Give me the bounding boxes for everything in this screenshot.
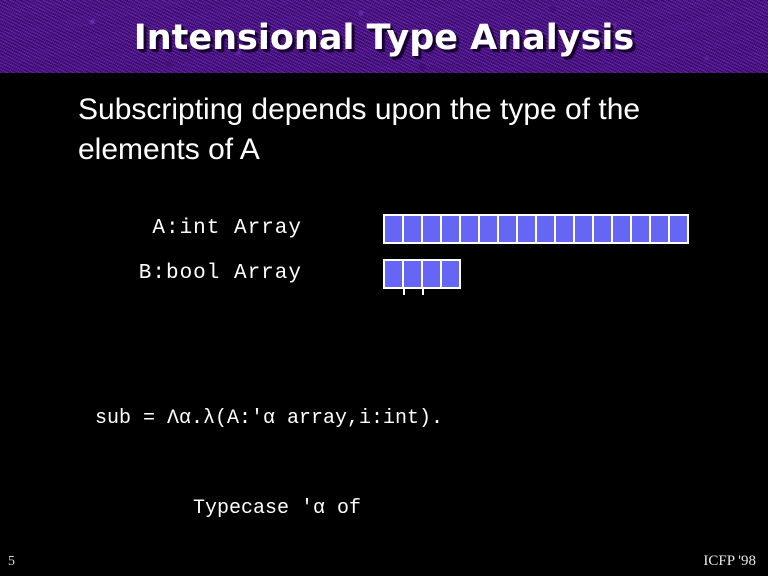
array-cell — [499, 216, 516, 242]
code-line: sub = Λα.λ(A:'α array,i:int). — [0, 404, 768, 434]
array-cell — [670, 216, 687, 242]
code-line: Typecase 'α of — [0, 494, 768, 524]
array-cell — [442, 216, 459, 242]
array-cell — [594, 216, 611, 242]
array-diagram: A:int Array B:bool Array — [0, 214, 768, 299]
slide: Intensional Type Analysis Subscripting d… — [0, 0, 768, 576]
array-cell — [404, 261, 421, 287]
array-cell — [480, 216, 497, 242]
array-cell — [575, 216, 592, 242]
array-tick — [403, 289, 405, 295]
page-title: Intensional Type Analysis — [0, 18, 768, 58]
array-cell — [385, 216, 402, 242]
array-cell — [613, 216, 630, 242]
array-label-b: B:bool Array — [0, 259, 302, 289]
array-cell — [651, 216, 668, 242]
slide-number: 5 — [8, 554, 15, 570]
array-cell — [556, 216, 573, 242]
footer-conference: ICFP '98 — [703, 553, 756, 570]
array-cell — [404, 216, 421, 242]
array-cell — [423, 261, 440, 287]
array-cell — [423, 216, 440, 242]
bullet-text: Subscripting depends upon the type of th… — [78, 90, 718, 170]
array-cell — [537, 216, 554, 242]
array-row: B:bool Array — [0, 259, 768, 299]
array-boxes-a — [383, 214, 689, 244]
array-cell — [632, 216, 649, 242]
array-cell — [442, 261, 459, 287]
array-row: A:int Array — [0, 214, 768, 254]
array-cell — [461, 216, 478, 242]
code-block: sub = Λα.λ(A:'α array,i:int). Typecase '… — [0, 344, 768, 576]
array-label-a: A:int Array — [0, 214, 302, 244]
array-boxes-b — [383, 259, 461, 289]
array-cell — [518, 216, 535, 242]
array-tick — [422, 289, 424, 295]
array-cell — [385, 261, 402, 287]
